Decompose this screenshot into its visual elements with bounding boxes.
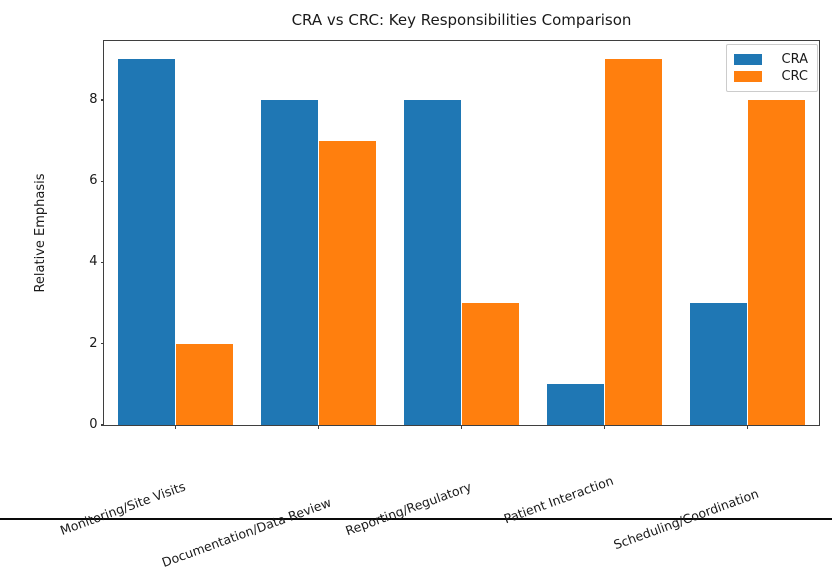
bar-cra-0: [118, 59, 175, 425]
legend-entry-crc: CRC: [734, 68, 810, 85]
y-axis-label-container: Relative Emphasis: [33, 40, 55, 426]
y-tick-mark: [101, 424, 105, 425]
x-axis-tick-label-text: Reporting/Regulatory: [343, 478, 475, 538]
y-axis-tick-label: 4: [58, 253, 98, 271]
y-axis-tick-label: 6: [58, 172, 98, 190]
bar-cra-4: [690, 303, 747, 425]
x-tick-mark: [461, 425, 462, 429]
bar-crc-0: [176, 344, 233, 425]
plot-area: Monitoring/Site VisitsDocumentation/Data…: [103, 40, 820, 426]
bar-crc-4: [748, 100, 805, 425]
y-tick-mark: [101, 343, 105, 344]
y-tick-mark: [101, 99, 105, 100]
page-title: CRA vs CRC: Key Responsibilities Compari…: [103, 11, 820, 29]
x-axis-tick-label-text: Monitoring/Site Visits: [57, 478, 188, 538]
x-axis-tick-label: Documentation/Data Review: [159, 494, 334, 570]
y-axis-label: Relative Emphasis: [33, 40, 55, 426]
bars-layer: [104, 41, 819, 425]
x-axis-tick-label: Scheduling/Coordination: [611, 485, 762, 552]
x-axis-tick-label-text: Scheduling/Coordination: [611, 485, 762, 552]
x-tick-mark: [318, 425, 319, 429]
x-axis-tick-label: Monitoring/Site Visits: [57, 478, 188, 538]
y-tick-mark: [101, 262, 105, 263]
x-tick-mark: [747, 425, 748, 429]
legend-label-cra: CRA: [762, 51, 810, 68]
bar-cra-2: [404, 100, 461, 425]
bar-crc-1: [319, 141, 376, 425]
bar-crc-3: [605, 59, 662, 425]
legend-swatch-crc: [734, 71, 762, 82]
x-axis-tick-label-text: Patient Interaction: [501, 472, 616, 526]
bar-cra-3: [547, 384, 604, 425]
y-axis-tick-label: 8: [58, 91, 98, 109]
legend-label-crc: CRC: [762, 68, 810, 85]
bar-crc-2: [462, 303, 519, 425]
legend[interactable]: CRA CRC: [726, 44, 818, 92]
y-axis-tick-label: 0: [58, 416, 98, 434]
legend-entry-cra: CRA: [734, 51, 810, 68]
x-tick-mark: [604, 425, 605, 429]
x-axis-tick-label: Patient Interaction: [501, 472, 616, 526]
y-axis-tick-label: 2: [58, 335, 98, 353]
x-tick-mark: [175, 425, 176, 429]
y-tick-mark: [101, 181, 105, 182]
x-axis-tick-label: Reporting/Regulatory: [343, 478, 475, 538]
figure-canvas: CRA vs CRC: Key Responsibilities Compari…: [0, 0, 832, 520]
x-axis-tick-label-text: Documentation/Data Review: [159, 494, 334, 570]
legend-swatch-cra: [734, 54, 762, 65]
bar-cra-1: [261, 100, 318, 425]
